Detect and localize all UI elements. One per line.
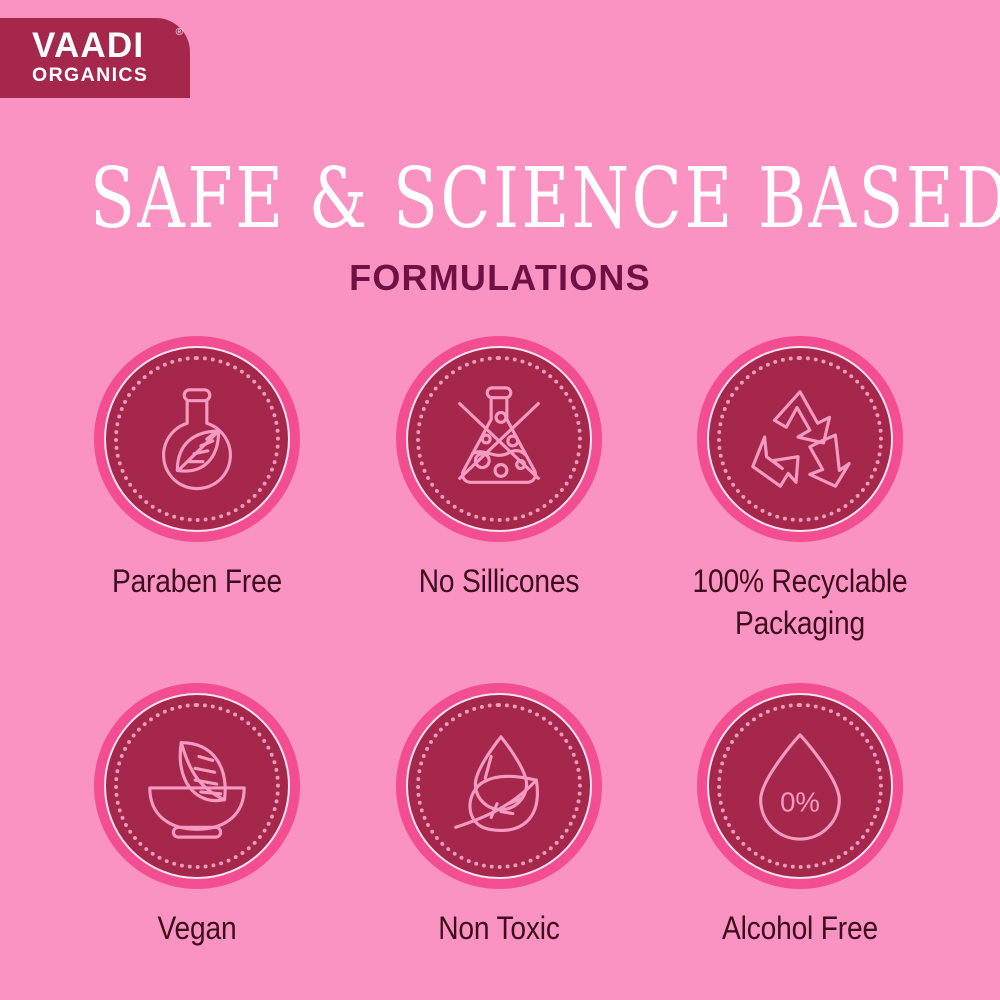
- badge-label: Non Toxic: [367, 907, 631, 949]
- badge-item-vegan: Vegan: [47, 683, 347, 949]
- page-subtitle: FORMULATIONS: [0, 258, 1000, 298]
- badge-disc: [94, 683, 300, 889]
- badge-disc: 0%: [697, 683, 903, 889]
- flask-crossed-out-icon: [440, 380, 558, 498]
- badge-label: Paraben Free: [65, 560, 329, 602]
- bowl-leaf-icon: [138, 727, 256, 845]
- badge-label: No Sillicones: [367, 560, 631, 602]
- badge-disc-inner: [406, 693, 592, 879]
- flask-leaf-icon: [138, 380, 256, 498]
- badge-disc: [697, 336, 903, 542]
- badge-item-non-toxic: Non Toxic: [349, 683, 649, 949]
- badge-grid: Paraben Free: [0, 336, 1000, 956]
- brand-logo: VAADI ® ORGANICS: [0, 18, 190, 98]
- badge-disc-inner: [707, 346, 893, 532]
- badge-disc-inner: 0%: [707, 693, 893, 879]
- badge-disc-inner: [406, 346, 592, 532]
- badge-item-no-sillicones: No Sillicones: [349, 336, 649, 602]
- droplet-leaf-icon: [440, 727, 558, 845]
- registered-trademark-icon: ®: [176, 28, 183, 38]
- badge-disc: [396, 683, 602, 889]
- badge-disc: [94, 336, 300, 542]
- brand-tagline: ORGANICS: [32, 63, 174, 87]
- badge-item-recyclable-packaging: 100% Recyclable Packaging: [650, 336, 950, 644]
- badge-item-alcohol-free: 0% Alcohol Free: [650, 683, 950, 949]
- badge-label: 100% Recyclable Packaging: [668, 560, 932, 644]
- recycle-icon: [741, 380, 859, 498]
- badge-label: Alcohol Free: [668, 907, 932, 949]
- badge-item-paraben-free: Paraben Free: [47, 336, 347, 602]
- badge-label: Vegan: [65, 907, 329, 949]
- promo-graphic: VAADI ® ORGANICS SAFE & SCIENCE BASED FO…: [0, 0, 1000, 1000]
- badge-disc-inner: [104, 693, 290, 879]
- page-title: SAFE & SCIENCE BASED: [90, 155, 910, 242]
- droplet-value-label: 0%: [780, 787, 820, 818]
- badge-disc-inner: [104, 346, 290, 532]
- droplet-zero-percent-icon: 0%: [741, 727, 859, 845]
- badge-disc: [396, 336, 602, 542]
- brand-name: VAADI: [32, 29, 174, 63]
- brand-logo-text: VAADI ® ORGANICS: [32, 29, 174, 87]
